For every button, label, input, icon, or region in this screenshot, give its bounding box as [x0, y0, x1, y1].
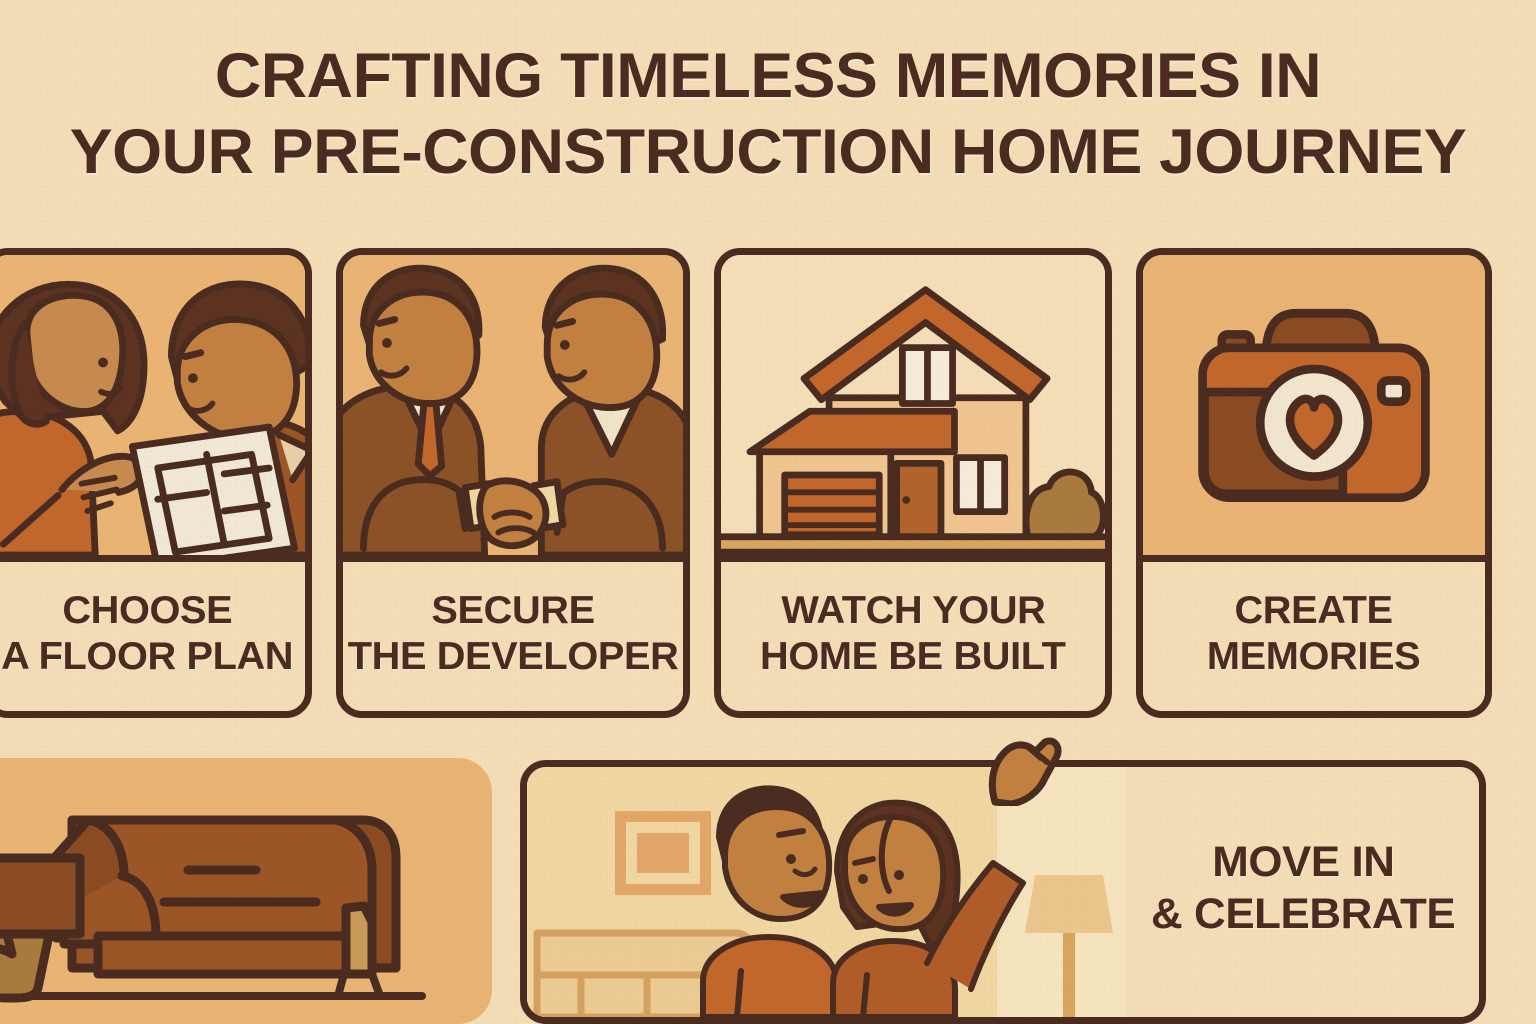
- handshake-icon: [343, 255, 683, 562]
- step-label-move-in-and-celebrate: MOVE IN & CELEBRATE: [1127, 767, 1479, 1017]
- step-card-secure-the-developer[interactable]: SECURE THE DEVELOPER: [336, 248, 690, 718]
- raised-hand-icon: [985, 736, 1065, 806]
- step-label-line-2: MEMORIES: [1207, 634, 1420, 680]
- page-title: CRAFTING TIMELESS MEMORIES IN YOUR PRE-C…: [0, 38, 1536, 190]
- step-label-line-1: CHOOSE: [62, 588, 232, 634]
- couple-reviewing-floor-plan-icon: [0, 255, 305, 562]
- step-card-choose-a-floor-plan[interactable]: CHOOSE A FLOOR PLAN: [0, 248, 312, 718]
- step-card-create-memories[interactable]: CREATE MEMORIES: [1136, 248, 1492, 718]
- step-label-line-2: A FLOOR PLAN: [1, 634, 293, 680]
- step-label-secure-the-developer: SECURE THE DEVELOPER: [343, 562, 683, 711]
- bottom-label-line-2: & CELEBRATE: [1151, 888, 1455, 940]
- camera-with-heart-icon: [1143, 255, 1485, 562]
- step-label-choose-a-floor-plan: CHOOSE A FLOOR PLAN: [0, 562, 305, 711]
- title-line-2: YOUR PRE-CONSTRUCTION HOME JOURNEY: [0, 114, 1536, 190]
- step-label-watch-your-home-be-built: WATCH YOUR HOME BE BUILT: [721, 562, 1105, 711]
- step-label-line-1: SECURE: [431, 588, 594, 634]
- bottom-label-line-1: MOVE IN: [1212, 836, 1394, 888]
- house-icon: [721, 255, 1105, 562]
- step-label-create-memories: CREATE MEMORIES: [1143, 562, 1485, 711]
- title-line-1: CRAFTING TIMELESS MEMORIES IN: [0, 38, 1536, 114]
- step-label-line-2: HOME BE BUILT: [760, 634, 1066, 680]
- step-label-line-1: WATCH YOUR: [781, 588, 1045, 634]
- sofa-with-plant-icon: [0, 758, 492, 1024]
- step-label-line-2: THE DEVELOPER: [348, 634, 679, 680]
- steps-row: CHOOSE A FLOOR PLAN: [0, 248, 1502, 718]
- step-card-watch-your-home-be-built[interactable]: WATCH YOUR HOME BE BUILT: [714, 248, 1112, 718]
- step-label-line-1: CREATE: [1235, 588, 1393, 634]
